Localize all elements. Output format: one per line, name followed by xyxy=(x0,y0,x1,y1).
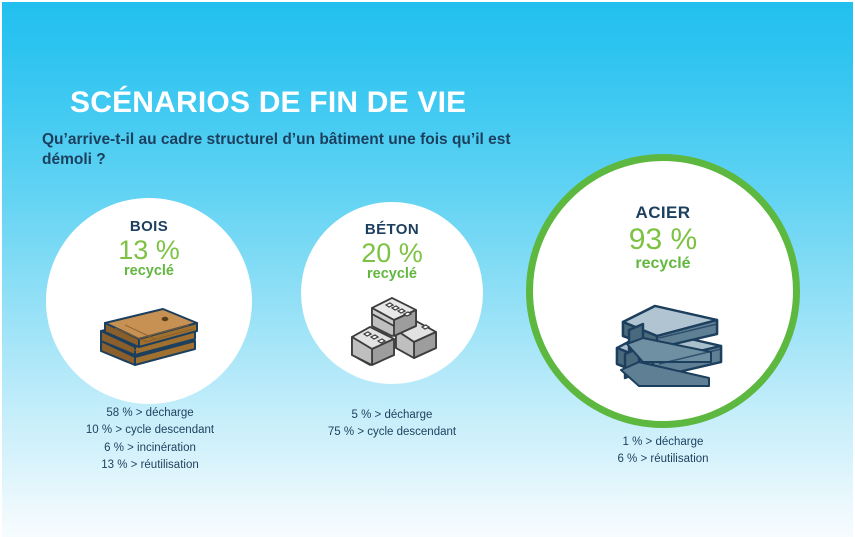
icon-slot-beton xyxy=(301,282,483,384)
stat-line: 6 % > incinération xyxy=(62,440,238,457)
material-name-acier: ACIER xyxy=(636,203,691,223)
wood-planks-icon xyxy=(95,301,203,367)
stat-line: 58 % > décharge xyxy=(62,405,238,422)
icon-slot-bois xyxy=(46,279,252,404)
stat-line: 13 % > réutilisation xyxy=(62,457,238,474)
material-recycled-label-bois: recyclé xyxy=(124,263,174,279)
material-circle-acier: ACIER 93 % recyclé xyxy=(526,154,800,428)
steel-beams-icon xyxy=(599,286,727,390)
stat-line: 1 % > décharge xyxy=(573,434,753,451)
stat-line: 5 % > décharge xyxy=(302,407,482,424)
material-name-bois: BOIS xyxy=(130,218,168,235)
stats-bois: 58 % > décharge 10 % > cycle descendant … xyxy=(62,405,238,475)
stat-line: 75 % > cycle descendant xyxy=(302,424,482,441)
stats-beton: 5 % > décharge 75 % > cycle descendant xyxy=(302,407,482,442)
material-circle-beton: BÉTON 20 % recyclé xyxy=(301,202,483,384)
page-subtitle: Qu’arrive-t-il au cadre structurel d’un … xyxy=(42,130,512,171)
material-circle-bois: BOIS 13 % recyclé xyxy=(46,198,252,404)
concrete-blocks-icon xyxy=(342,290,442,366)
material-percent-bois: 13 % xyxy=(118,236,180,264)
material-percent-acier: 93 % xyxy=(629,224,697,256)
material-name-beton: BÉTON xyxy=(365,221,419,238)
icon-slot-acier xyxy=(533,273,793,422)
material-percent-beton: 20 % xyxy=(361,239,423,267)
stat-line: 6 % > réutilisation xyxy=(573,451,753,468)
stats-acier: 1 % > décharge 6 % > réutilisation xyxy=(573,434,753,469)
stat-line: 10 % > cycle descendant xyxy=(62,422,238,439)
material-recycled-label-acier: recyclé xyxy=(635,255,690,273)
infographic-canvas: SCÉNARIOS DE FIN DE VIE Qu’arrive-t-il a… xyxy=(0,0,855,537)
page-title: SCÉNARIOS DE FIN DE VIE xyxy=(70,86,466,120)
material-recycled-label-beton: recyclé xyxy=(367,266,417,282)
